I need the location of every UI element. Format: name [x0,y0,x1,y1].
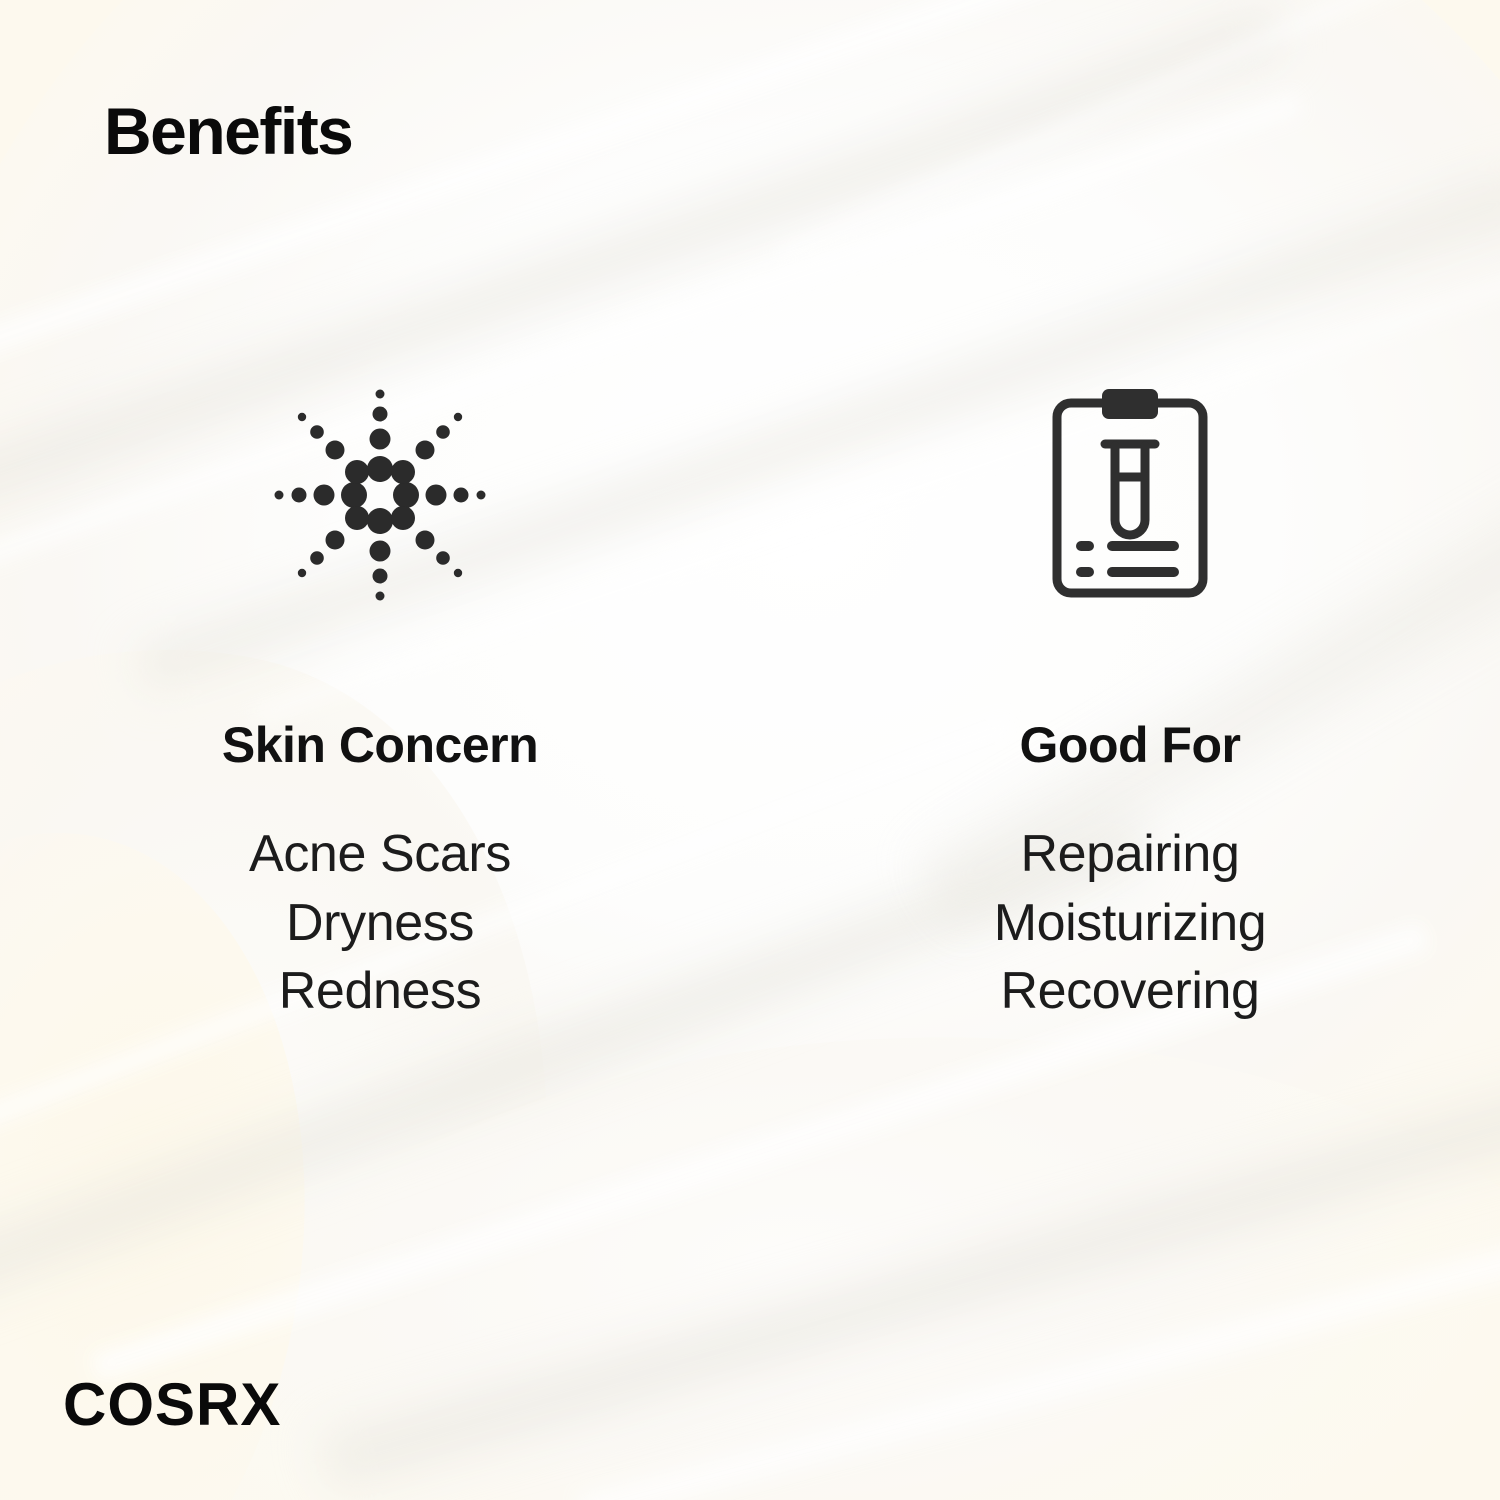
benefits-columns: Skin Concern Acne Scars Dryness Redness [0,370,1500,1026]
list-item: Redness [249,957,511,1026]
clipboard-test-tube-icon [1049,370,1211,620]
list-item: Dryness [249,889,511,958]
skin-concern-list: Acne Scars Dryness Redness [249,820,511,1026]
benefit-column-skin-concern: Skin Concern Acne Scars Dryness Redness [0,370,760,1026]
brand-logo-cosrx: COSRX [63,1375,281,1435]
list-item: Acne Scars [249,820,511,889]
starburst-dots-icon [265,370,495,620]
benefit-column-good-for: Good For Repairing Moisturizing Recoveri… [760,370,1500,1026]
list-item: Recovering [994,957,1267,1026]
list-item: Moisturizing [994,889,1267,958]
benefits-infographic: Benefits [0,0,1500,1500]
list-item: Repairing [994,820,1267,889]
section-heading-good-for: Good For [1020,720,1241,770]
page-title: Benefits [104,98,352,164]
good-for-list: Repairing Moisturizing Recovering [994,820,1267,1026]
section-heading-skin-concern: Skin Concern [222,720,538,770]
